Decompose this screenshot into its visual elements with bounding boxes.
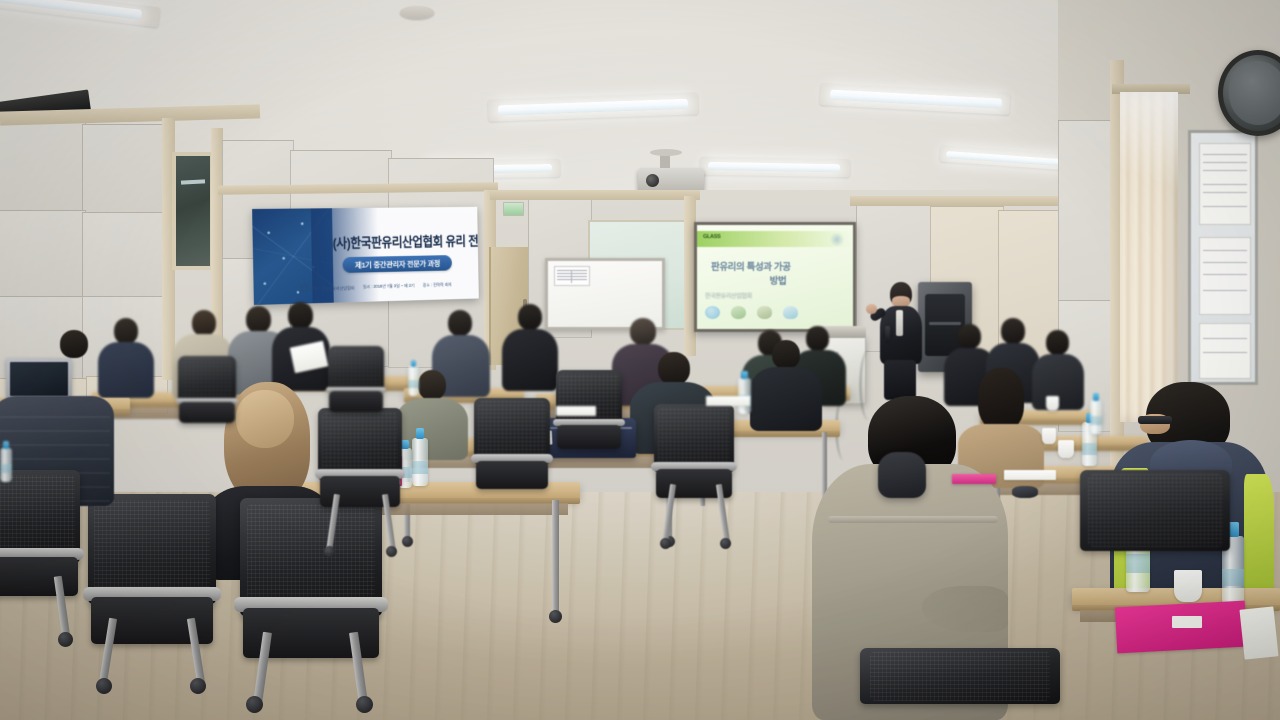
exit-sign <box>503 202 524 216</box>
water-bottle <box>408 366 419 396</box>
office-chair[interactable] <box>0 470 80 620</box>
paper-document <box>1239 606 1278 659</box>
association-logo-icon <box>301 284 309 292</box>
paper-document <box>1004 470 1056 480</box>
computer-mouse[interactable] <box>1012 486 1038 498</box>
clock-face <box>1229 61 1280 125</box>
office-chair[interactable] <box>1080 470 1230 600</box>
notice-document <box>1199 143 1251 225</box>
presenter-speaker <box>872 282 928 400</box>
circle-icon <box>705 306 720 319</box>
water-bottle <box>1090 400 1102 434</box>
seminar-room-photo: (사)한국판유리산업협회 유리 전문가 교육 제1기 중간관리자 전문가 과정 … <box>0 0 1280 720</box>
banner-subtitle: 제1기 중간관리자 전문가 과정 <box>342 255 452 273</box>
attendee <box>40 330 112 406</box>
slide-subtitle: 한국판유리산업협회 <box>705 291 752 300</box>
slide-title: 판유리의 특성과 가공 방법 <box>711 261 845 288</box>
highvis-stripe <box>1244 474 1274 594</box>
banner-footer-item-2: 장소 : 전략적 회의 <box>423 281 452 288</box>
event-banner: (사)한국판유리산업협회 유리 전문가 교육 제1기 중간관리자 전문가 과정 … <box>252 207 479 305</box>
jacket-seam <box>828 516 998 523</box>
notice-document <box>1199 323 1251 379</box>
office-chair[interactable] <box>474 398 550 506</box>
banner-title: (사)한국판유리산업협회 유리 전문가 교육 <box>332 231 472 253</box>
wall-trim <box>850 196 1070 206</box>
slide-logo <box>829 233 845 246</box>
leaf-icon <box>731 306 746 319</box>
water-bottle <box>0 448 12 482</box>
office-chair[interactable] <box>178 356 236 436</box>
pink-folder <box>952 474 996 484</box>
slide-tag: GLASS <box>703 234 720 240</box>
wall-trim <box>490 190 700 200</box>
paper-document <box>706 396 750 406</box>
backpack <box>878 452 926 498</box>
presenter-hand <box>866 304 877 314</box>
office-chair[interactable] <box>556 370 622 464</box>
office-chair[interactable] <box>328 346 384 424</box>
eyeglasses <box>1138 416 1172 424</box>
window-curtain[interactable] <box>1120 92 1178 422</box>
folder-label <box>1172 616 1202 628</box>
projection-screen: GLASS 판유리의 특성과 가공 방법 한국판유리산업협회 <box>694 222 856 332</box>
projector-lens <box>646 174 659 187</box>
attendee <box>502 304 558 388</box>
glass-window-panel <box>172 152 214 270</box>
presenter-shirt <box>896 310 903 336</box>
smoke-detector <box>400 6 434 19</box>
office-chair[interactable] <box>860 648 1060 720</box>
banner-footer-item-0: 주최 : 한국판유리산업협회 <box>301 282 355 292</box>
paper-document <box>556 406 596 416</box>
handheld-microphone <box>885 326 890 343</box>
paper-cup <box>1046 396 1059 411</box>
paper-cup <box>1042 428 1056 444</box>
glass-reflection <box>181 179 205 184</box>
slide-icon-row <box>705 306 798 319</box>
water-bottle <box>412 438 428 486</box>
wall-panel <box>0 210 86 300</box>
wall-panel <box>0 118 86 214</box>
wall-panel <box>82 212 166 300</box>
wall-panel <box>82 124 166 216</box>
notice-board <box>1188 130 1258 385</box>
paper-cup <box>1058 440 1074 458</box>
schedule-note <box>554 266 590 286</box>
dish-icon <box>757 306 772 319</box>
sunlight-patch <box>1120 92 1178 212</box>
presenter-legs <box>884 360 916 400</box>
droplet-icon <box>783 306 798 319</box>
notice-document <box>1199 237 1251 315</box>
banner-footer-item-1: 일시 : 2018년 7월 3일 ~ 제 2기 <box>363 282 415 289</box>
